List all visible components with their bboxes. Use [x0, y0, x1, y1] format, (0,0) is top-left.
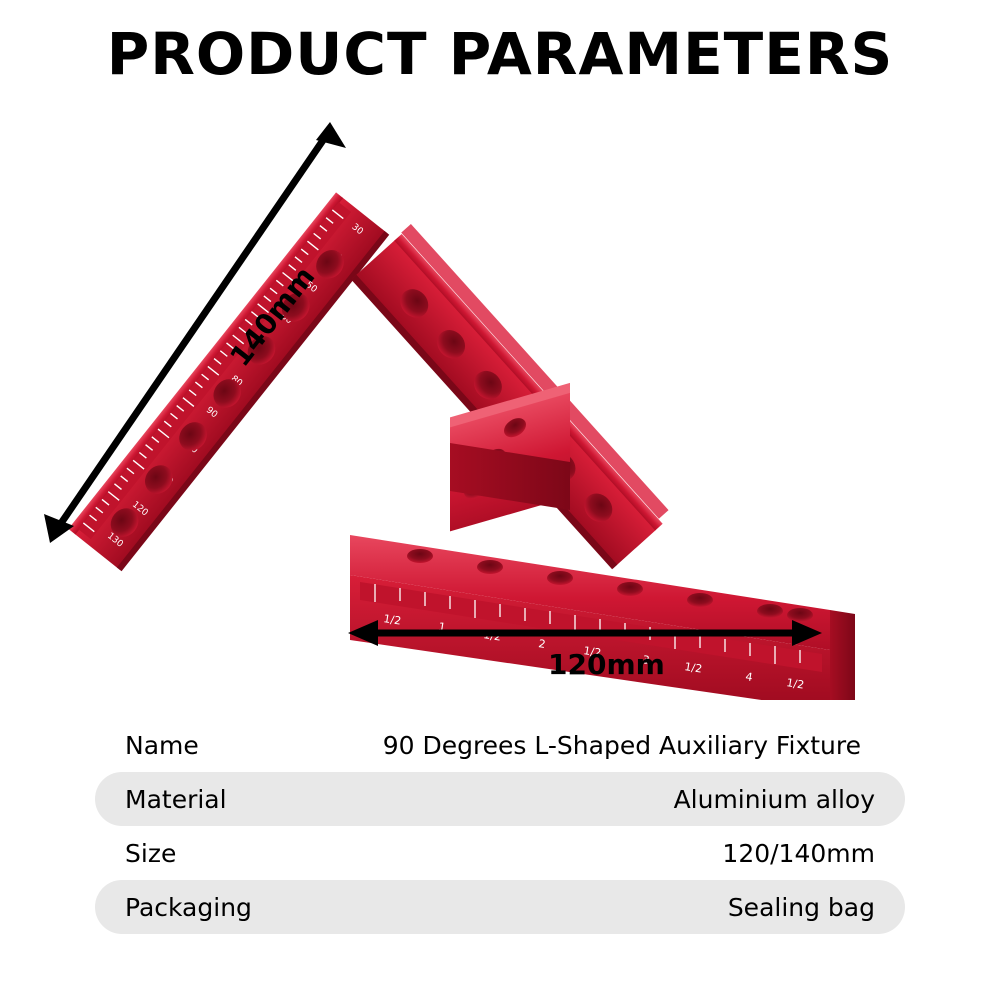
spec-value: 120/140mm: [722, 839, 875, 868]
spec-value: Sealing bag: [728, 893, 875, 922]
svg-text:1/2: 1/2: [383, 612, 403, 628]
table-row: Size 120/140mm: [95, 826, 905, 880]
spec-key: Packaging: [125, 893, 252, 922]
page-title: PRODUCT PARAMETERS: [0, 24, 1000, 85]
svg-text:1/2: 1/2: [684, 660, 704, 676]
table-row: Name 90 Degrees L-Shaped Auxiliary Fixtu…: [95, 718, 905, 772]
spec-key: Name: [125, 731, 199, 760]
spec-value: Aluminium alloy: [674, 785, 875, 814]
product-parameters-page: PRODUCT PARAMETERS: [0, 0, 1000, 1000]
dimension-label-120: 120mm: [548, 648, 665, 681]
spec-key: Material: [125, 785, 227, 814]
table-row: Material Aluminium alloy: [95, 772, 905, 826]
spec-value: 90 Degrees L-Shaped Auxiliary Fixture: [383, 731, 875, 760]
spec-table: Name 90 Degrees L-Shaped Auxiliary Fixtu…: [95, 718, 905, 934]
product-illustration-svg: 130 120 110 100 90 80 70 60 50 40 30: [0, 110, 1000, 700]
table-row: Packaging Sealing bag: [95, 880, 905, 934]
product-image: 130 120 110 100 90 80 70 60 50 40 30: [0, 110, 1000, 700]
spec-key: Size: [125, 839, 176, 868]
svg-text:1/2: 1/2: [786, 676, 806, 692]
